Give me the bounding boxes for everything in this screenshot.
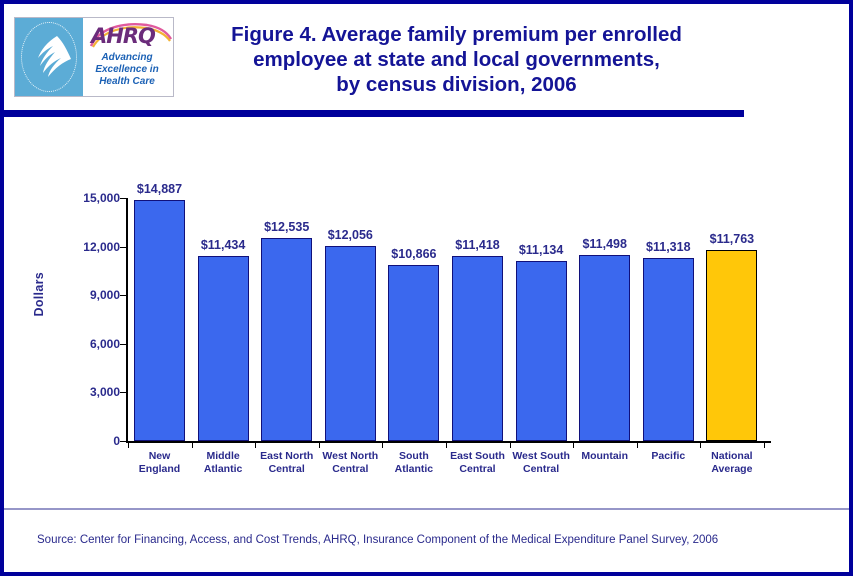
x-axis-category-line: West South (505, 450, 577, 463)
y-tick-mark (120, 344, 126, 345)
y-tick-mark (120, 198, 126, 199)
bar-value-label: $12,056 (310, 229, 390, 242)
y-tick-label: 0 (58, 435, 120, 447)
bar (643, 258, 694, 441)
y-tick-mark (120, 295, 126, 296)
x-axis-category-label: NewEngland (124, 450, 196, 476)
footer-divider (4, 508, 849, 510)
x-axis-category-line: Central (314, 463, 386, 476)
x-axis-category-label: East NorthCentral (251, 450, 323, 476)
x-tick-mark (764, 443, 765, 448)
x-axis-line (126, 441, 771, 443)
hhs-bird-icon (27, 32, 73, 82)
x-tick-mark (382, 443, 383, 448)
x-axis-category-line: Central (251, 463, 323, 476)
tagline-line-1: Advancing (83, 52, 171, 64)
x-axis-category-line: South (378, 450, 450, 463)
bar (261, 238, 312, 441)
ahrq-logo: AHRQ Advancing Excellence in Health Care (14, 17, 174, 97)
figure-title-line-2: employee at state and local governments, (184, 47, 729, 72)
x-axis-category-label: SouthAtlantic (378, 450, 450, 476)
x-axis-category-line: New (124, 450, 196, 463)
y-tick-mark (120, 441, 126, 442)
bar (579, 255, 630, 441)
y-tick-label: 3,000 (58, 386, 120, 398)
tagline-line-2: Excellence in (83, 64, 171, 76)
figure-title: Figure 4. Average family premium per enr… (184, 22, 729, 97)
bar (388, 265, 439, 441)
x-axis-category-line: Atlantic (378, 463, 450, 476)
y-tick-label: 15,000 (58, 192, 120, 204)
bar (706, 250, 757, 441)
x-axis-category-line: West North (314, 450, 386, 463)
bar (452, 256, 503, 441)
x-axis-category-line: Average (696, 463, 768, 476)
x-tick-mark (128, 443, 129, 448)
bar-chart: Dollars 03,0006,0009,00012,00015,000 $14… (4, 117, 849, 507)
x-axis-category-label: NationalAverage (696, 450, 768, 476)
source-note: Source: Center for Financing, Access, an… (37, 534, 718, 546)
x-axis-category-line: Mountain (569, 450, 641, 463)
x-axis-category-line: East North (251, 450, 323, 463)
x-axis-category-line: Pacific (632, 450, 704, 463)
x-axis-category-line: East South (442, 450, 514, 463)
x-tick-mark (192, 443, 193, 448)
x-tick-mark (319, 443, 320, 448)
y-tick-label: 12,000 (58, 241, 120, 253)
ahrq-abbrev: AHRQ (91, 26, 155, 47)
tagline-line-3: Health Care (83, 76, 171, 88)
bar-value-label: $11,434 (183, 239, 263, 252)
y-axis-line (126, 198, 128, 442)
x-axis-category-line: England (124, 463, 196, 476)
x-axis-category-label: Mountain (569, 450, 641, 463)
figure-page: AHRQ Advancing Excellence in Health Care… (0, 0, 853, 576)
x-axis-category-label: West SouthCentral (505, 450, 577, 476)
x-axis-category-line: Atlantic (187, 463, 259, 476)
y-axis-title: Dollars (32, 272, 48, 316)
x-tick-mark (255, 443, 256, 448)
bar (516, 261, 567, 441)
x-tick-mark (637, 443, 638, 448)
y-tick-mark (120, 247, 126, 248)
x-axis-category-label: MiddleAtlantic (187, 450, 259, 476)
bar (134, 200, 185, 441)
y-tick-mark (120, 392, 126, 393)
x-tick-mark (510, 443, 511, 448)
bar-value-label: $11,763 (692, 233, 772, 246)
x-tick-mark (446, 443, 447, 448)
x-axis-category-line: National (696, 450, 768, 463)
figure-title-line-3: by census division, 2006 (184, 72, 729, 97)
figure-title-line-1: Figure 4. Average family premium per enr… (184, 22, 729, 47)
bar (325, 246, 376, 441)
ahrq-tagline: Advancing Excellence in Health Care (83, 52, 171, 88)
header-divider (4, 110, 744, 117)
figure-header: AHRQ Advancing Excellence in Health Care… (4, 4, 849, 108)
x-axis-category-line: Central (505, 463, 577, 476)
x-axis-category-label: East SouthCentral (442, 450, 514, 476)
x-tick-mark (700, 443, 701, 448)
bar-value-label: $14,887 (120, 183, 200, 196)
hhs-seal-icon (15, 18, 83, 96)
x-axis-category-line: Middle (187, 450, 259, 463)
x-axis-category-label: Pacific (632, 450, 704, 463)
bar (198, 256, 249, 441)
ahrq-wordmark: AHRQ Advancing Excellence in Health Care (83, 18, 173, 96)
y-tick-label: 9,000 (58, 289, 120, 301)
x-axis-category-label: West NorthCentral (314, 450, 386, 476)
x-axis-category-line: Central (442, 463, 514, 476)
x-tick-mark (573, 443, 574, 448)
y-tick-label: 6,000 (58, 338, 120, 350)
